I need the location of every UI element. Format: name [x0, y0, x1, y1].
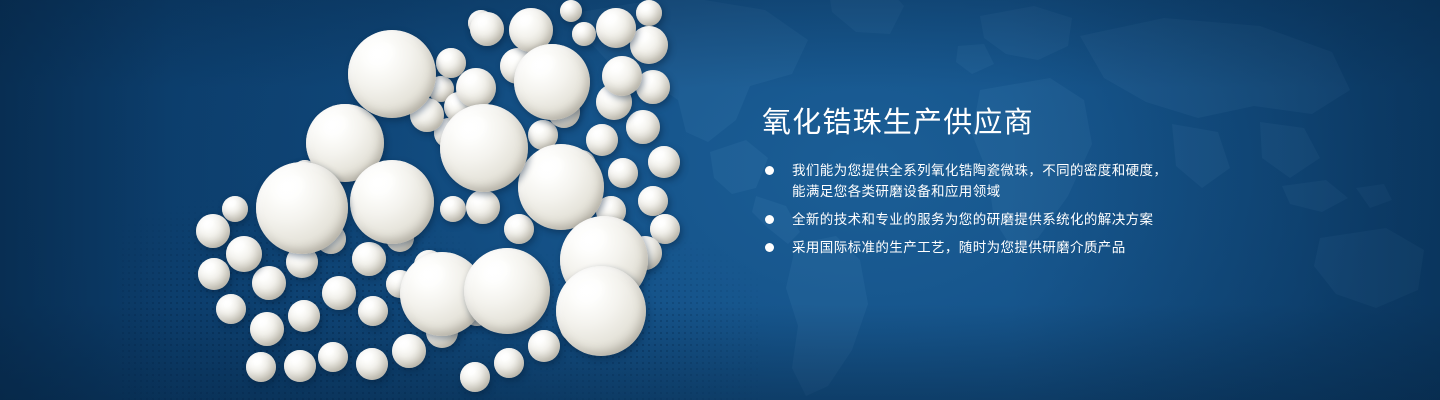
hero-banner: 氧化锆珠生产供应商 我们能为您提供全系列氧化锆陶瓷微珠，不同的密度和硬度， 能满…: [0, 0, 1440, 400]
bullet-dot-icon: [765, 243, 774, 252]
feature-bullet-item: 我们能为您提供全系列氧化锆陶瓷微珠，不同的密度和硬度， 能满足您各类研磨设备和应…: [762, 160, 1232, 202]
banner-copy: 氧化锆珠生产供应商 我们能为您提供全系列氧化锆陶瓷微珠，不同的密度和硬度， 能满…: [762, 108, 1232, 258]
feature-bullet-item: 采用国际标准的生产工艺，随时为您提供研磨介质产品: [762, 237, 1232, 258]
banner-headline: 氧化锆珠生产供应商: [762, 108, 1232, 138]
bullet-text-line: 全新的技术和专业的服务为您的研磨提供系统化的解决方案: [792, 209, 1232, 230]
bullet-text-line: 能满足您各类研磨设备和应用领域: [792, 181, 1232, 202]
bullet-text-line: 我们能为您提供全系列氧化锆陶瓷微珠，不同的密度和硬度，: [792, 160, 1232, 181]
bullet-dot-icon: [765, 215, 774, 224]
bullet-dot-icon: [765, 166, 774, 175]
feature-bullet-item: 全新的技术和专业的服务为您的研磨提供系统化的解决方案: [762, 209, 1232, 230]
bullet-text-line: 采用国际标准的生产工艺，随时为您提供研磨介质产品: [792, 237, 1232, 258]
feature-bullet-list: 我们能为您提供全系列氧化锆陶瓷微珠，不同的密度和硬度， 能满足您各类研磨设备和应…: [762, 160, 1232, 258]
